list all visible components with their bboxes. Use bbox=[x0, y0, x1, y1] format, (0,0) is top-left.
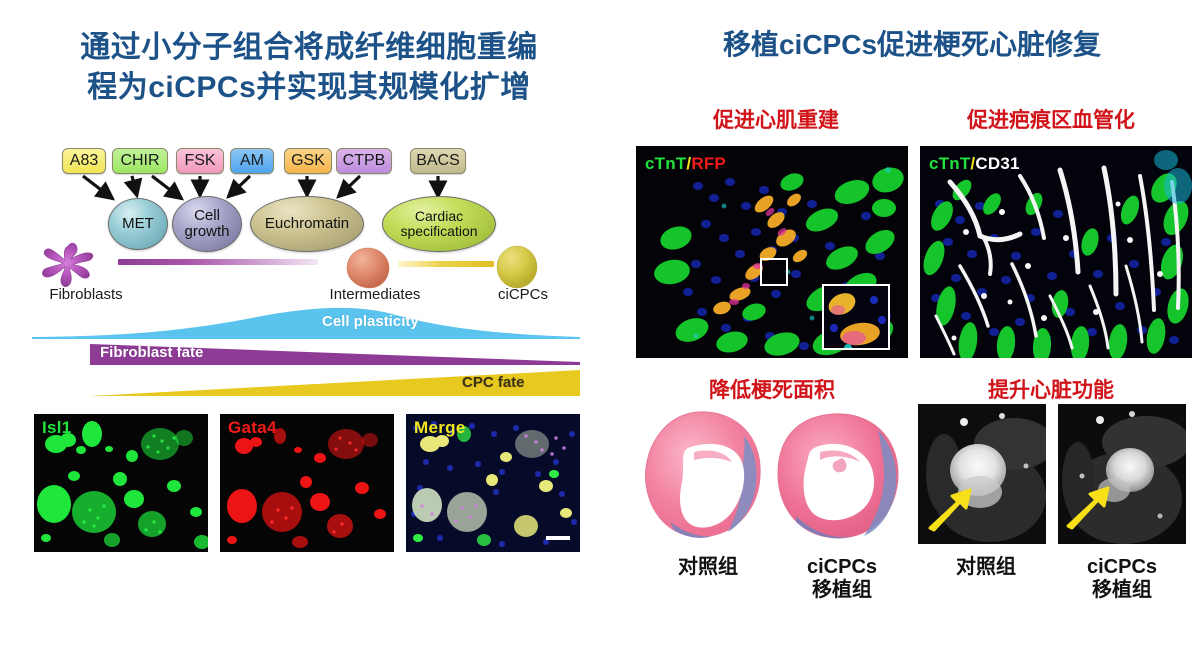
node-cardiac-specification: Cardiac specification bbox=[382, 196, 496, 252]
fibroblast-cell-icon bbox=[38, 240, 100, 290]
subhead-vascularization: 促进疤痕区血管化 bbox=[908, 104, 1194, 134]
subhead-cardiac-function: 提升心脏功能 bbox=[908, 374, 1194, 404]
heart-section-cicpc bbox=[778, 414, 898, 538]
arrow-chir-cellgrowth bbox=[152, 176, 182, 199]
node-euchromatin: Euchromatin bbox=[250, 196, 364, 252]
group-label-control-histology: 对照组 bbox=[648, 556, 768, 579]
drug-box-fsk: FSK bbox=[176, 148, 224, 174]
histology-tag-ctnt-rfp: cTnT/RFP bbox=[645, 154, 726, 174]
fate-label-cell-plasticity: Cell plasticity bbox=[322, 313, 419, 330]
scale-bar-icon bbox=[546, 536, 570, 540]
stage-label-cicpcs: ciCPCs bbox=[478, 286, 568, 303]
marker-ctnt-2: cTnT bbox=[929, 154, 970, 173]
immunofluorescence-row: Isl1 bbox=[34, 414, 580, 552]
magnified-inset bbox=[822, 284, 890, 350]
figure-root: 通过小分子组合将成纤维细胞重编 程为ciCPCs并实现其规模化扩增 A83 CH… bbox=[0, 0, 1194, 647]
heart-sections-masson bbox=[636, 404, 908, 549]
fate-label-cpc-fate: CPC fate bbox=[462, 374, 525, 391]
group-label-cicpc-mri-line1: ciCPCs bbox=[1087, 556, 1157, 578]
stage-label-fibroblasts: Fibroblasts bbox=[26, 286, 146, 303]
subhead-infarct-size: 降低梗死面积 bbox=[636, 374, 908, 404]
page-title-right: 移植ciCPCs促进梗死心脏修复 bbox=[630, 28, 1194, 62]
title-left-line1: 通过小分子组合将成纤维细胞重编 bbox=[14, 28, 604, 68]
group-label-control-mri: 对照组 bbox=[926, 556, 1046, 579]
histology-tag-ctnt-cd31: cTnT/CD31 bbox=[929, 154, 1020, 174]
node-cell-growth: Cell growth bbox=[172, 196, 242, 252]
group-label-cicpc-line2: 移植组 bbox=[812, 579, 872, 601]
node-met: MET bbox=[108, 198, 168, 250]
drug-box-chir: CHIR bbox=[112, 148, 168, 174]
if-tag-isl1: Isl1 bbox=[42, 418, 72, 438]
mri-scan-control bbox=[918, 404, 1046, 544]
drug-box-a83: A83 bbox=[62, 148, 106, 174]
if-panel-merge[interactable]: Merge bbox=[406, 414, 580, 552]
fate-wedge-group: Cell plasticity Fibroblast fate CPC fate bbox=[32, 308, 580, 400]
group-label-cicpc-line1: ciCPCs bbox=[807, 556, 877, 578]
drug-box-am: AM bbox=[230, 148, 274, 174]
if-tag-gata4: Gata4 bbox=[228, 418, 277, 438]
marker-rfp: RFP bbox=[691, 154, 726, 173]
subhead-myocardium: 促进心肌重建 bbox=[636, 104, 916, 134]
mri-scan-cicpc bbox=[1058, 404, 1186, 544]
fate-label-fibroblast-fate: Fibroblast fate bbox=[100, 344, 203, 361]
drug-box-bacs: BACS bbox=[410, 148, 466, 174]
group-label-cicpc-mri: ciCPCs 移植组 bbox=[1062, 556, 1182, 602]
arrow-a83-met bbox=[83, 176, 113, 199]
mri-image-cicpc[interactable] bbox=[1058, 404, 1186, 544]
group-label-cicpc-histology: ciCPCs 移植组 bbox=[782, 556, 902, 602]
histology-image-ctnt-cd31 bbox=[920, 146, 1192, 358]
node-cardiac-specification-label: Cardiac specification bbox=[383, 209, 495, 238]
histology-panel-myocardium[interactable]: cTnT/RFP bbox=[636, 146, 908, 358]
wedge-cell-plasticity bbox=[32, 308, 580, 339]
title-left-line2: 程为ciCPCs并实现其规模化扩增 bbox=[14, 68, 604, 108]
node-met-label: MET bbox=[122, 216, 154, 232]
if-panel-gata4[interactable]: Gata4 bbox=[220, 414, 394, 552]
cicpc-gradient-bar bbox=[398, 261, 494, 267]
arrow-ctpb-euchromatin bbox=[338, 176, 360, 197]
mri-group bbox=[918, 404, 1192, 549]
inset-image bbox=[824, 286, 890, 350]
if-panel-isl1[interactable]: Isl1 bbox=[34, 414, 208, 552]
fibroblast-gradient-bar bbox=[118, 259, 318, 265]
histology-panel-vascularization[interactable]: cTnT/CD31 bbox=[920, 146, 1192, 358]
group-label-cicpc-mri-line2: 移植组 bbox=[1092, 579, 1152, 601]
intermediate-cell-icon bbox=[345, 246, 391, 290]
node-euchromatin-label: Euchromatin bbox=[265, 216, 349, 232]
stage-label-intermediates: Intermediates bbox=[310, 286, 440, 303]
arrow-chir-met bbox=[132, 176, 137, 196]
cicpc-cell-icon bbox=[495, 245, 539, 289]
drug-box-gsk: GSK bbox=[284, 148, 332, 174]
heart-section-group bbox=[636, 404, 908, 549]
heart-section-control bbox=[646, 412, 761, 538]
page-title-left: 通过小分子组合将成纤维细胞重编 程为ciCPCs并实现其规模化扩增 bbox=[14, 28, 604, 107]
marker-ctnt: cTnT bbox=[645, 154, 686, 173]
arrow-am-cellgrowth bbox=[228, 176, 250, 197]
roi-selection-box bbox=[760, 258, 788, 286]
node-cell-growth-text: Cell growth bbox=[184, 207, 229, 240]
drug-box-ctpb: CTPB bbox=[336, 148, 392, 174]
if-tag-merge: Merge bbox=[414, 418, 466, 438]
marker-cd31: CD31 bbox=[975, 154, 1019, 173]
node-cell-growth-label: Cell growth bbox=[173, 208, 241, 240]
mri-image-control[interactable] bbox=[918, 404, 1046, 544]
